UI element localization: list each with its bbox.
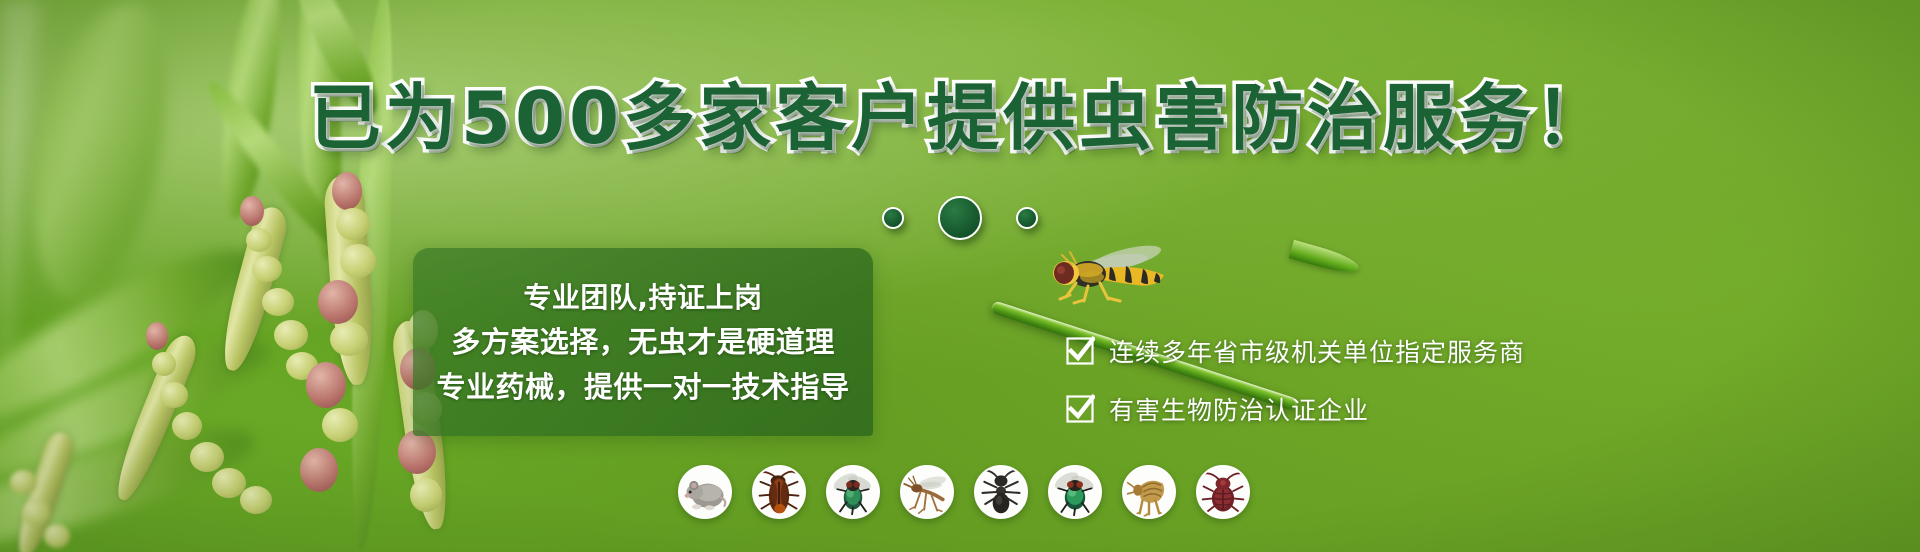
flea-icon	[1122, 465, 1176, 519]
list-item: 有害生物防治认证企业	[1065, 391, 1525, 427]
promo-banner: 已为500多家客户提供虫害防治服务！ 专业团队,持证上岗 多方案选择，无虫才是硬…	[0, 0, 1920, 552]
cockroach-icon	[752, 465, 806, 519]
check-icon	[1065, 336, 1095, 366]
slogan-panel: 专业团队,持证上岗 多方案选择，无虫才是硬道理 专业药械，提供一对一技术指导	[413, 248, 873, 436]
credentials-list: 连续多年省市级机关单位指定服务商 有害生物防治认证企业	[1065, 333, 1525, 427]
ant-icon	[974, 465, 1028, 519]
list-item-label: 有害生物防治认证企业	[1109, 391, 1369, 427]
page-title: 已为500多家客户提供虫害防治服务！	[0, 82, 1920, 154]
rodent-icon	[678, 465, 732, 519]
bedbug-icon	[1196, 465, 1250, 519]
slogan-line-2: 多方案选择，无虫才是硬道理	[451, 323, 835, 362]
housefly-icon	[826, 465, 880, 519]
dot-small-left	[882, 207, 904, 229]
list-item-label: 连续多年省市级机关单位指定服务商	[1109, 333, 1525, 369]
blowfly-icon	[1048, 465, 1102, 519]
decorative-dot-row	[0, 196, 1920, 240]
slogan-line-3: 专业药械，提供一对一技术指导	[436, 368, 849, 407]
pest-icon-row	[678, 465, 1250, 519]
dot-large-center	[938, 196, 982, 240]
check-icon	[1065, 394, 1095, 424]
slogan-line-1: 专业团队,持证上岗	[523, 279, 762, 317]
mosquito-icon	[900, 465, 954, 519]
dot-small-right	[1016, 207, 1038, 229]
list-item: 连续多年省市级机关单位指定服务商	[1065, 333, 1525, 369]
